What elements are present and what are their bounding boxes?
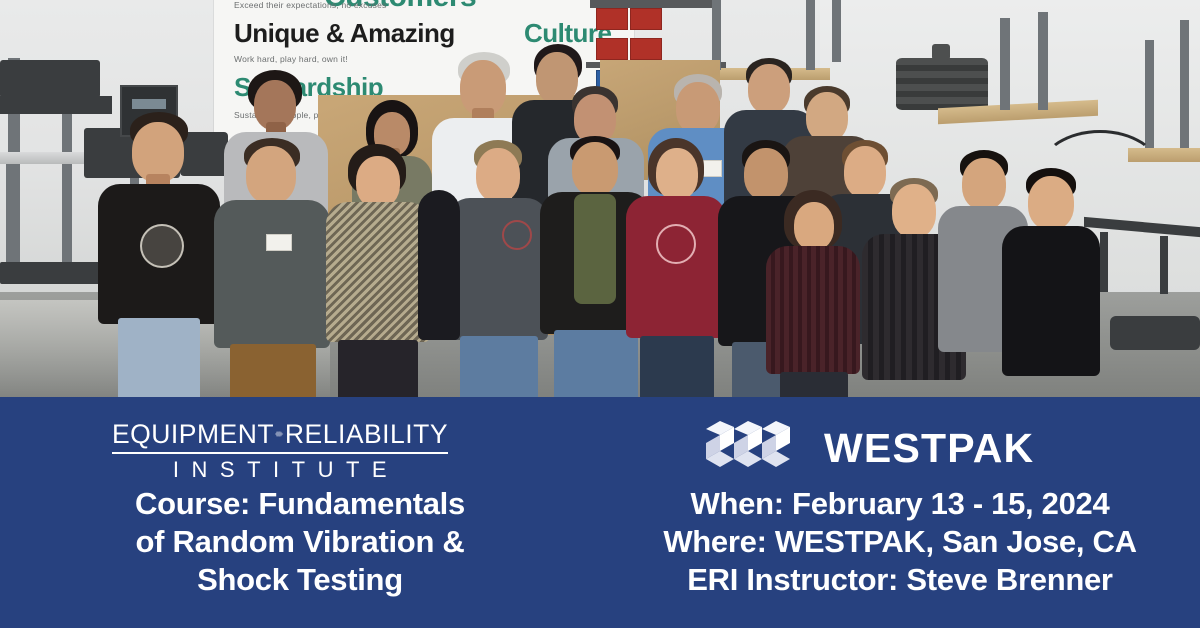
floor-machine — [1110, 316, 1200, 350]
banner-left-column: EQUIPMENT — [0, 397, 600, 628]
poster-line-culture-sub: Work hard, play hard, own it! — [234, 54, 348, 64]
event-where-line: Where: WESTPAK, San Jose, CA — [600, 523, 1200, 561]
test-rig-plate — [0, 96, 112, 114]
storage-bin-red-4 — [630, 38, 662, 60]
eri-word-reliability: RELIABILITY — [285, 421, 448, 448]
banner-right-column: WESTPAK When: February 13 - 15, 2024 Whe… — [600, 397, 1200, 628]
attendee-front-edge — [418, 190, 460, 398]
attendee-front-12 — [1002, 168, 1100, 398]
eri-word-equipment: EQUIPMENT — [112, 421, 274, 448]
eri-logo-wordrow: EQUIPMENT — [112, 417, 448, 451]
poster-line-culture-black: Unique & Amazing — [234, 18, 455, 49]
info-banner: EQUIPMENT — [0, 397, 1200, 628]
attendee-front-6 — [626, 138, 726, 398]
frame-post-6 — [1145, 40, 1154, 148]
westpak-wordmark: WESTPAK — [824, 428, 1034, 469]
frame-post-3 — [832, 0, 841, 62]
event-when-line: When: February 13 - 15, 2024 — [600, 485, 1200, 523]
weight-plates — [896, 58, 988, 110]
attendee-front-4 — [448, 140, 548, 398]
frame-post-4 — [1000, 18, 1010, 110]
storage-shelf-top — [590, 0, 720, 8]
frame-post-7 — [1180, 20, 1189, 150]
drop-table-leg-2 — [1160, 236, 1168, 294]
course-title-line-3: Shock Testing — [0, 561, 600, 599]
storage-bin-red-2 — [630, 8, 662, 30]
course-title-line-2: of Random Vibration & — [0, 523, 600, 561]
group-photo: Customers Exceed their expectations, no … — [0, 0, 1200, 398]
vibration-waveform-icon — [275, 419, 284, 449]
drop-table-leg-1 — [1100, 232, 1108, 292]
poster-line-customers-sub: Exceed their expectations, no excuses — [234, 0, 386, 10]
event-instructor-line: ERI Instructor: Steve Brenner — [600, 561, 1200, 599]
attendee-front-2 — [214, 138, 330, 398]
course-title-block: Course: Fundamentals of Random Vibration… — [0, 485, 600, 599]
tshirt-graphic — [140, 224, 184, 268]
course-announcement-banner: Customers Exceed their expectations, no … — [0, 0, 1200, 628]
westpak-logo: WESTPAK — [700, 415, 1100, 481]
eri-word-institute: INSTITUTE — [112, 457, 448, 483]
course-title-line-1: Course: Fundamentals — [0, 485, 600, 523]
attendee-front-9 — [766, 190, 860, 398]
bench-leg-1 — [6, 164, 15, 274]
attendee-front-1 — [98, 112, 220, 398]
eri-logo-divider — [112, 452, 448, 454]
eri-logo: EQUIPMENT — [112, 417, 448, 479]
event-details-block: When: February 13 - 15, 2024 Where: WEST… — [600, 485, 1200, 599]
attendee-front-3 — [326, 144, 430, 398]
storage-bin-red-1 — [596, 8, 628, 30]
name-badge — [266, 234, 292, 251]
isometric-cubes-icon — [700, 417, 808, 479]
test-rig-head — [0, 60, 100, 98]
frame-post-5 — [1038, 12, 1048, 110]
